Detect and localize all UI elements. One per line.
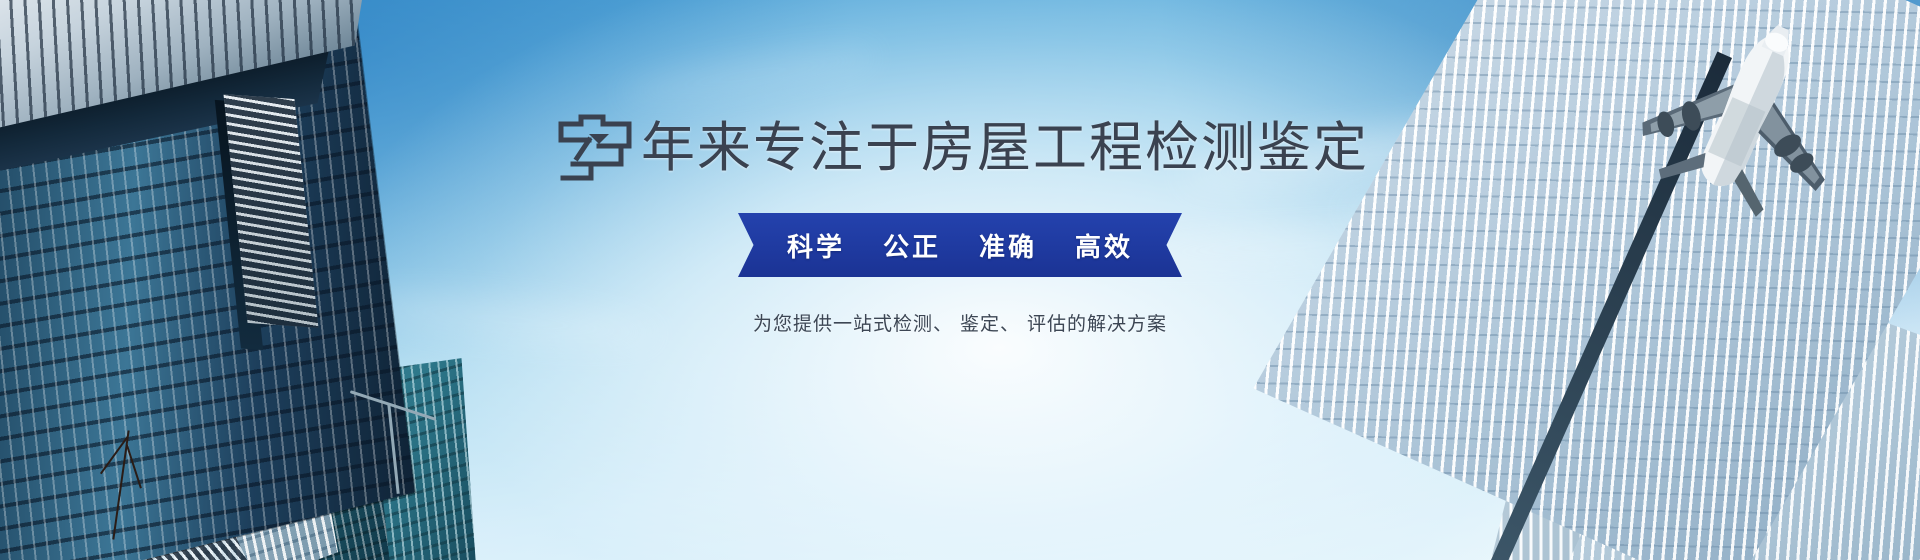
- slogan-ribbon: 科学 公正 准确 高效: [738, 213, 1182, 277]
- banner-content: 年来专注于房屋工程检测鉴定 科学 公正 准确 高效 为您提供一站式检测、 鉴定、…: [0, 0, 1920, 560]
- subtitle-text: 为您提供一站式检测、 鉴定、 评估的解决方案: [753, 309, 1167, 336]
- headline-row: 年来专注于房屋工程检测鉴定: [551, 112, 1369, 184]
- ribbon-shape: 科学 公正 准确 高效: [738, 213, 1182, 277]
- ribbon-item-3: 准确: [979, 227, 1037, 264]
- ribbon-item-4: 高效: [1075, 227, 1133, 264]
- duo-logo-icon: [551, 112, 637, 184]
- ribbon-item-2: 公正: [883, 227, 941, 264]
- hero-banner: 年来专注于房屋工程检测鉴定 科学 公正 准确 高效 为您提供一站式检测、 鉴定、…: [0, 0, 1920, 560]
- ribbon-item-1: 科学: [787, 227, 845, 264]
- headline-text: 年来专注于房屋工程检测鉴定: [641, 121, 1369, 175]
